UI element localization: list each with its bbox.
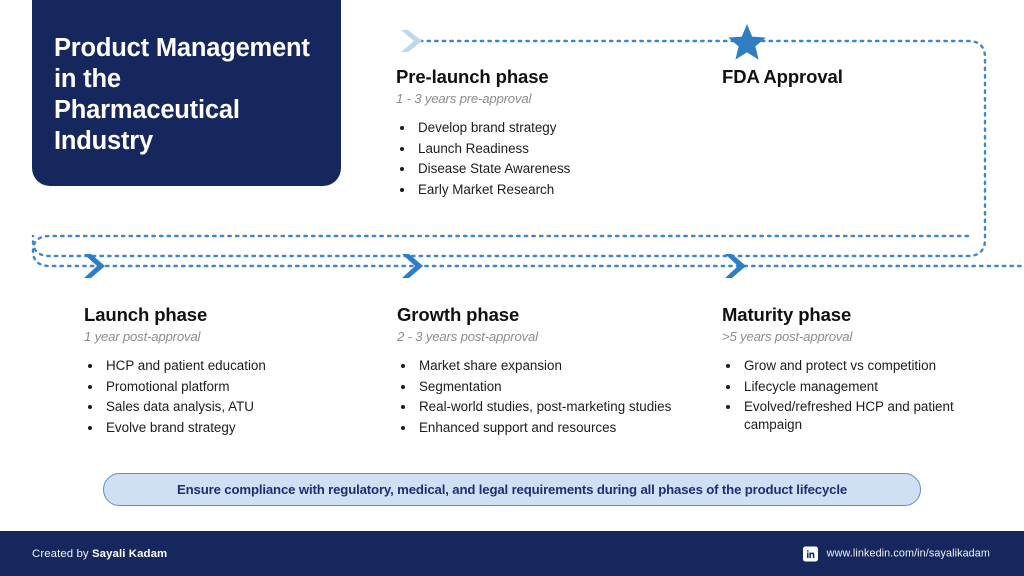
phase-timeframe: 2 - 3 years post-approval <box>397 329 717 346</box>
phase-fda-approval: FDA Approval <box>722 66 1002 88</box>
phase-title: Pre-launch phase <box>396 66 696 88</box>
phase-maturity: Maturity phase >5 years post-approval Gr… <box>722 304 962 437</box>
list-item: Sales data analysis, ATU <box>103 398 384 416</box>
list-item: Real-world studies, post-marketing studi… <box>416 398 717 416</box>
footer-bar: Created by Sayali Kadam www.linkedin.com… <box>0 531 1024 576</box>
footer-author-name: Sayali Kadam <box>92 548 167 560</box>
footer-social[interactable]: www.linkedin.com/in/sayalikadam <box>803 546 990 561</box>
chevron-icon-launch <box>82 252 110 280</box>
phase-title: FDA Approval <box>722 66 1002 88</box>
page-title: Product Management in the Pharmaceutical… <box>54 33 310 157</box>
phase-timeframe: >5 years post-approval <box>722 329 962 346</box>
phase-pre-launch: Pre-launch phase 1 - 3 years pre-approva… <box>396 66 696 202</box>
list-item: Evolve brand strategy <box>103 419 384 437</box>
list-item: Evolved/refreshed HCP and patient campai… <box>741 398 962 434</box>
phase-bullet-list: Market share expansion Segmentation Real… <box>397 357 717 437</box>
footer-credit: Created by Sayali Kadam <box>32 548 167 560</box>
phase-bullet-list: HCP and patient education Promotional pl… <box>84 357 384 437</box>
linkedin-url[interactable]: www.linkedin.com/in/sayalikadam <box>827 548 990 560</box>
phase-title: Maturity phase <box>722 304 962 326</box>
phase-bullet-list: Grow and protect vs competition Lifecycl… <box>722 357 962 434</box>
infographic-canvas: Product Management in the Pharmaceutical… <box>0 0 1024 576</box>
phase-title: Launch phase <box>84 304 384 326</box>
list-item: Lifecycle management <box>741 378 962 396</box>
linkedin-icon[interactable] <box>803 546 818 561</box>
phase-growth: Growth phase 2 - 3 years post-approval M… <box>397 304 717 440</box>
list-item: Launch Readiness <box>415 140 696 158</box>
compliance-banner: Ensure compliance with regulatory, medic… <box>103 473 921 506</box>
list-item: Early Market Research <box>415 181 696 199</box>
list-item: Develop brand strategy <box>415 119 696 137</box>
compliance-text: Ensure compliance with regulatory, medic… <box>177 482 847 497</box>
phase-bullet-list: Develop brand strategy Launch Readiness … <box>396 119 696 199</box>
list-item: Disease State Awareness <box>415 160 696 178</box>
title-card: Product Management in the Pharmaceutical… <box>32 0 341 186</box>
chevron-icon-growth <box>400 252 428 280</box>
phase-launch: Launch phase 1 year post-approval HCP an… <box>84 304 384 440</box>
footer-credit-prefix: Created by <box>32 548 92 560</box>
list-item: Market share expansion <box>416 357 717 375</box>
list-item: Promotional platform <box>103 378 384 396</box>
phase-timeframe: 1 year post-approval <box>84 329 384 346</box>
list-item: Segmentation <box>416 378 717 396</box>
phase-title: Growth phase <box>397 304 717 326</box>
chevron-icon-maturity <box>723 252 751 280</box>
list-item: Enhanced support and resources <box>416 419 717 437</box>
list-item: HCP and patient education <box>103 357 384 375</box>
chevron-icon-pre-launch <box>398 27 428 57</box>
star-icon-fda-approval <box>726 22 768 62</box>
list-item: Grow and protect vs competition <box>741 357 962 375</box>
phase-timeframe: 1 - 3 years pre-approval <box>396 91 696 108</box>
